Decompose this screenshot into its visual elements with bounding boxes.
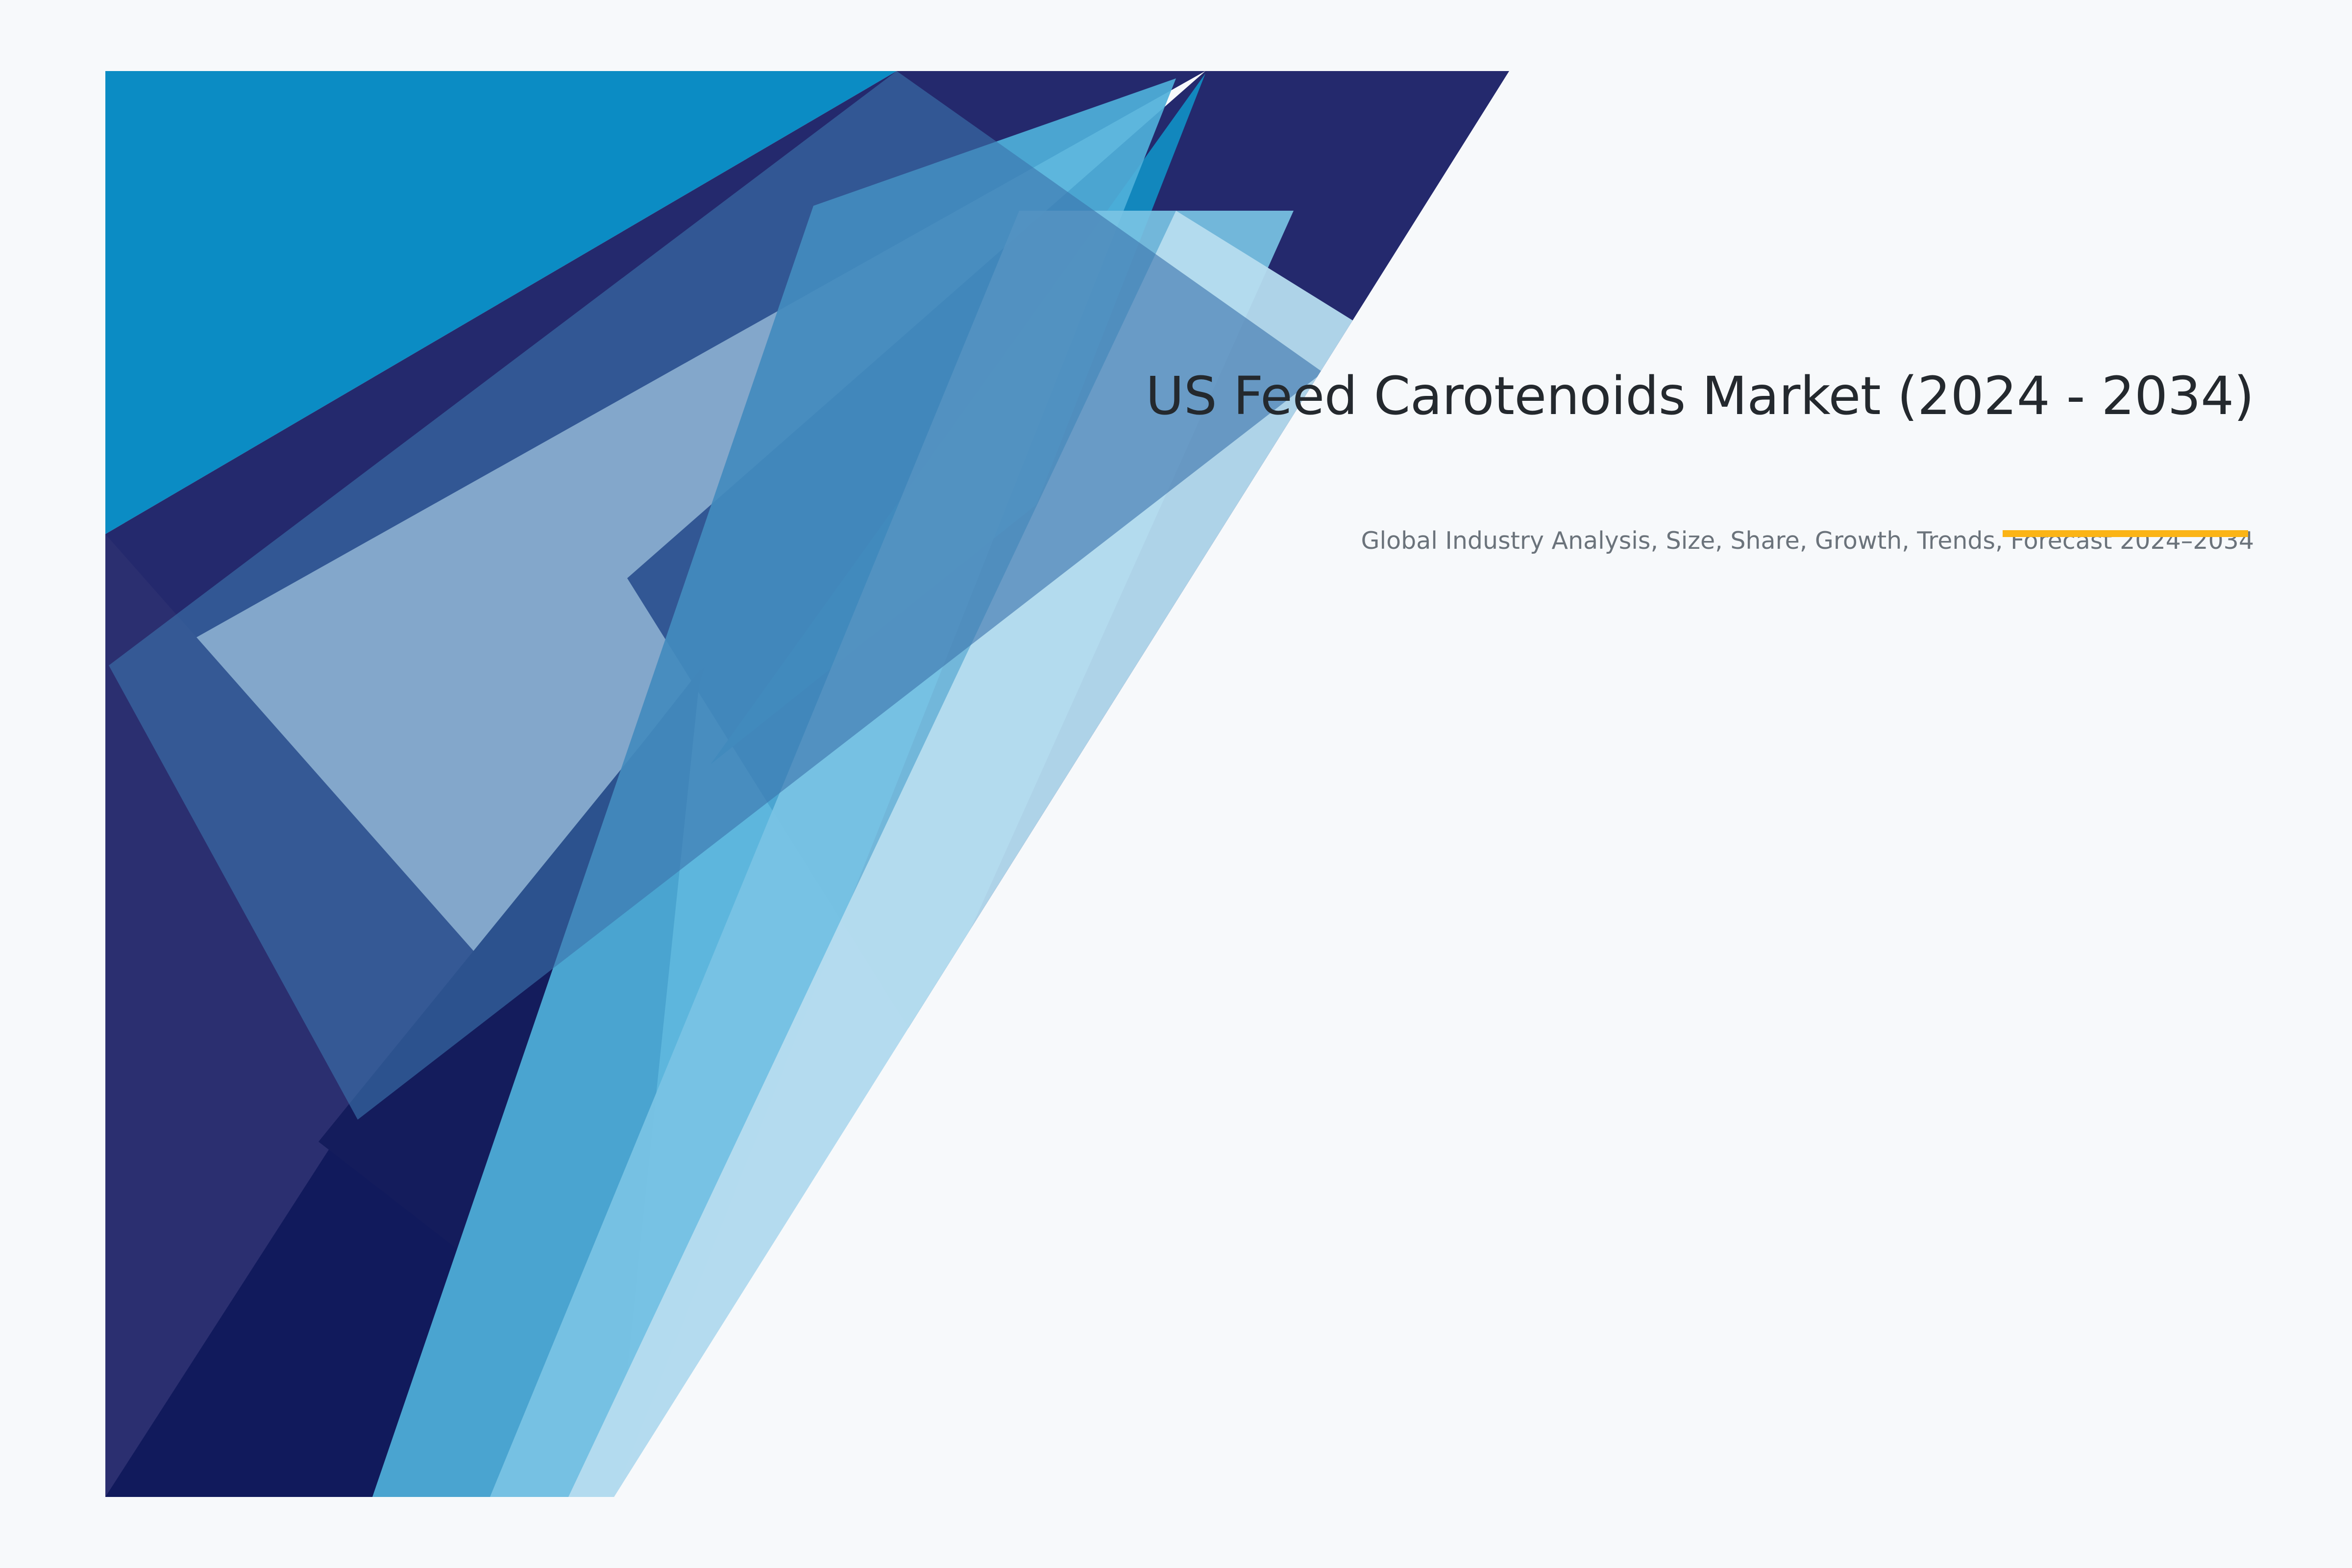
page-title: US Feed Carotenoids Market (2024 - 2034)	[862, 363, 2254, 431]
cover-artwork	[0, 0, 2352, 1568]
slide-canvas: US Feed Carotenoids Market (2024 - 2034)…	[0, 0, 2352, 1568]
title-text-block: US Feed Carotenoids Market (2024 - 2034)…	[862, 363, 2254, 557]
accent-underline-bar	[2003, 530, 2248, 537]
page-subtitle: Global Industry Analysis, Size, Share, G…	[862, 431, 2254, 557]
title-wrapper: US Feed Carotenoids Market (2024 - 2034)	[862, 363, 2254, 431]
